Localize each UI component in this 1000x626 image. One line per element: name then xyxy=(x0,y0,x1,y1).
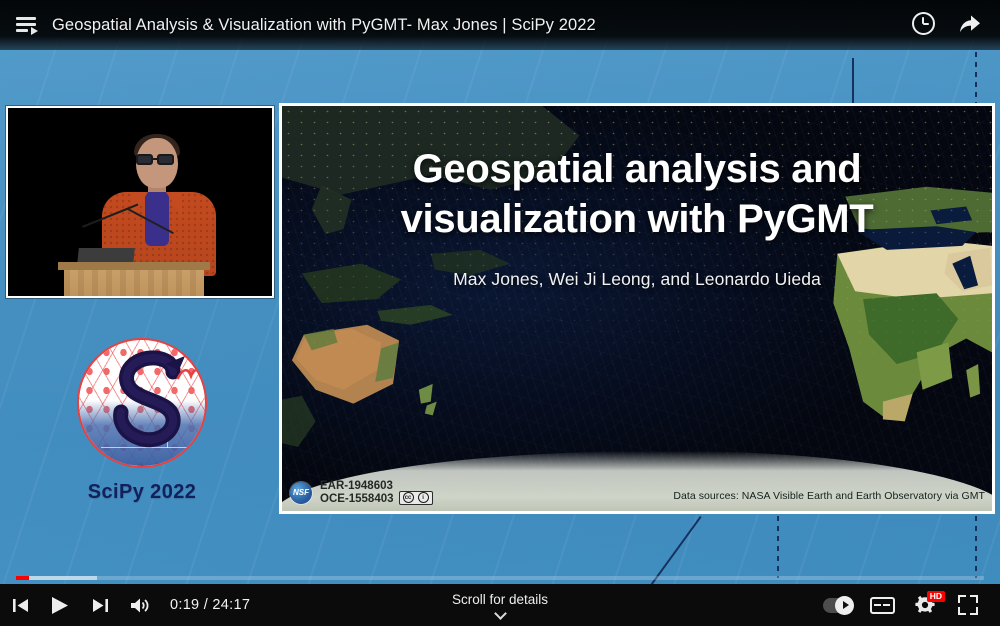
settings-button[interactable]: HD xyxy=(902,584,948,626)
presentation-slide[interactable]: Geospatial analysis and visualization wi… xyxy=(279,103,995,514)
right-controls-group: HD xyxy=(814,584,1000,626)
clock-icon xyxy=(912,12,935,35)
presenter-collar-right xyxy=(166,192,182,218)
playlist-queue-icon[interactable] xyxy=(16,14,38,36)
slide-title-line2: visualization with PyGMT xyxy=(282,194,992,244)
player-controls-bar: 0:19 / 24:17 Scroll for details HD xyxy=(0,584,1000,626)
scroll-hint-label: Scroll for details xyxy=(452,593,548,607)
progress-track[interactable] xyxy=(16,576,984,580)
data-sources-note: Data sources: NASA Visible Earth and Ear… xyxy=(673,490,985,502)
exit-fullscreen-icon xyxy=(958,595,978,615)
autoplay-switch-icon xyxy=(823,598,853,613)
conference-logo-block: SciPy 2022 xyxy=(62,338,222,504)
wooden-podium xyxy=(64,268,204,298)
grant-number-1: EAR-1948603 xyxy=(320,480,394,493)
conference-label: SciPy 2022 xyxy=(62,481,222,504)
gear-wrap: HD xyxy=(912,592,938,618)
fullscreen-button[interactable] xyxy=(948,584,988,626)
video-title: Geospatial Analysis & Visualization with… xyxy=(52,16,596,35)
slide-authors: Max Jones, Wei Ji Leong, and Leonardo Ui… xyxy=(282,269,992,290)
progress-bar-zone[interactable] xyxy=(0,572,1000,584)
slide-title-line1: Geospatial analysis and xyxy=(282,144,992,194)
chevron-down-icon xyxy=(494,607,507,620)
creative-commons-badge: cc i xyxy=(399,491,433,505)
previous-button[interactable] xyxy=(0,584,40,626)
share-arrow-icon xyxy=(956,12,982,36)
grant-numbers: EAR-1948603 OCE-1558403 xyxy=(320,480,394,505)
presenter-glasses xyxy=(136,154,180,165)
volume-icon xyxy=(130,596,151,615)
time-display: 0:19 / 24:17 xyxy=(170,597,250,613)
scipy-snake-logo xyxy=(77,338,207,468)
podium-top xyxy=(58,262,210,270)
share-button[interactable] xyxy=(956,12,982,38)
presenter-video-thumbnail[interactable] xyxy=(6,106,274,298)
autoplay-toggle[interactable] xyxy=(814,584,862,626)
video-header-bar: Geospatial Analysis & Visualization with… xyxy=(0,0,1000,50)
next-track-icon xyxy=(92,597,109,614)
watch-later-button[interactable] xyxy=(912,12,938,38)
nsf-logo-icon: NSF xyxy=(290,482,312,504)
slide-funding-credits: NSF EAR-1948603 OCE-1558403 cc i xyxy=(290,480,433,505)
closed-captions-icon xyxy=(870,597,895,614)
slide-canvas: Geospatial analysis and visualization wi… xyxy=(282,106,992,511)
progress-played xyxy=(16,576,29,580)
captions-button[interactable] xyxy=(862,584,902,626)
grant-number-2: OCE-1558403 xyxy=(320,493,394,506)
play-icon xyxy=(51,596,69,615)
cc-by-icon: i xyxy=(418,492,429,503)
slide-title: Geospatial analysis and visualization wi… xyxy=(282,144,992,244)
logo-bird-icon xyxy=(175,364,207,394)
next-button[interactable] xyxy=(80,584,120,626)
previous-track-icon xyxy=(12,597,29,614)
presenter-stage xyxy=(8,108,272,296)
cc-icon: cc xyxy=(403,492,414,503)
hd-quality-badge: HD xyxy=(927,591,945,602)
volume-button[interactable] xyxy=(120,584,160,626)
play-button[interactable] xyxy=(40,584,80,626)
video-player-page: Geospatial Analysis & Visualization with… xyxy=(0,0,1000,626)
header-actions xyxy=(912,12,1000,38)
